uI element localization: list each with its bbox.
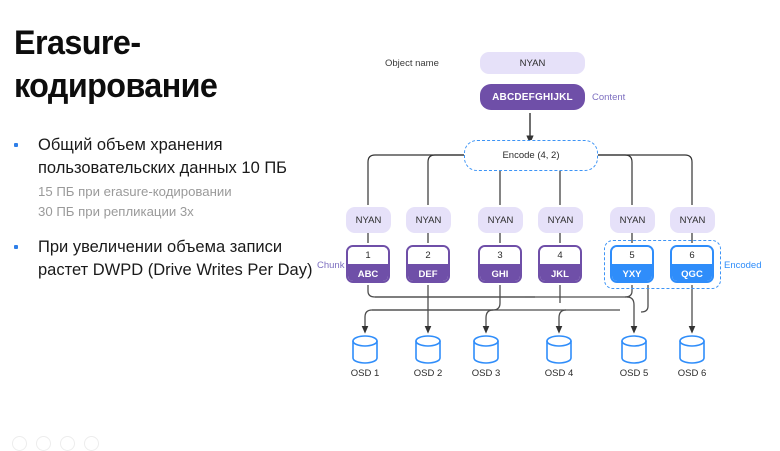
osd-label: OSD 1 — [340, 368, 390, 379]
bullet-sublist: 15 ПБ при erasure-кодировании 30 ПБ при … — [14, 182, 314, 222]
chunk-box: 5 YXY — [610, 245, 654, 283]
pagination-dot[interactable] — [36, 436, 51, 451]
bullet-text-primary: Общий объем хранения пользовательских да… — [38, 134, 314, 179]
pagination-dots[interactable] — [12, 436, 99, 451]
chunk-box: 1 ABC — [346, 245, 390, 283]
chunk-label: Chunk — [317, 260, 344, 271]
content-label: Content — [592, 92, 625, 103]
chunk-name-pill: NYAN — [346, 207, 391, 233]
chunk-data: DEF — [408, 264, 448, 283]
encode-box: Encode (4, 2) — [464, 140, 598, 171]
page-title: Erasure- кодирование — [14, 22, 299, 108]
osd-label: OSD 5 — [609, 368, 659, 379]
chunk-box: 3 GHI — [478, 245, 522, 283]
chunk-data: YXY — [612, 264, 652, 283]
chunk-name-pill: NYAN — [538, 207, 583, 233]
chunk-index: 2 — [408, 247, 448, 264]
list-item: При увеличении объема записи растет DWPD… — [14, 236, 314, 281]
encoded-label: Encoded — [724, 260, 762, 271]
slide-left-panel: Erasure- кодирование Общий объем хранени… — [0, 0, 330, 447]
chunk-name-pill: NYAN — [610, 207, 655, 233]
pagination-dot[interactable] — [84, 436, 99, 451]
pagination-dot[interactable] — [12, 436, 27, 451]
erasure-coding-diagram: Object name NYAN ABCDEFGHIJKL Content En… — [330, 0, 780, 447]
content-pill: ABCDEFGHIJKL — [480, 84, 585, 110]
osd-label: OSD 3 — [461, 368, 511, 379]
chunk-index: 5 — [612, 247, 652, 264]
square-bullet-icon — [14, 143, 18, 147]
chunk-name-pill: NYAN — [670, 207, 715, 233]
chunk-box: 4 JKL — [538, 245, 582, 283]
chunk-name-pill: NYAN — [406, 207, 451, 233]
bullet-text-primary: При увеличении объема записи растет DWPD… — [38, 236, 314, 281]
chunk-box: 6 QGC — [670, 245, 714, 283]
chunk-box: 2 DEF — [406, 245, 450, 283]
object-name-pill: NYAN — [480, 52, 585, 74]
bullet-subtext: 15 ПБ при erasure-кодировании — [38, 182, 314, 202]
bullet-subtext: 30 ПБ при репликации 3х — [38, 202, 314, 222]
object-name-label: Object name — [385, 58, 439, 69]
page-title-line-2: кодирование — [14, 65, 299, 108]
osd-label: OSD 2 — [403, 368, 453, 379]
page-title-line-1: Erasure- — [14, 22, 299, 65]
square-bullet-icon — [14, 245, 18, 249]
chunk-data: QGC — [672, 264, 712, 283]
bullet-list: Общий объем хранения пользовательских да… — [14, 134, 314, 293]
chunk-index: 3 — [480, 247, 520, 264]
osd-label: OSD 6 — [667, 368, 717, 379]
chunk-index: 4 — [540, 247, 580, 264]
chunk-data: GHI — [480, 264, 520, 283]
list-item: Общий объем хранения пользовательских да… — [14, 134, 314, 222]
osd-label: OSD 4 — [534, 368, 584, 379]
chunk-index: 1 — [348, 247, 388, 264]
chunk-data: JKL — [540, 264, 580, 283]
chunk-data: ABC — [348, 264, 388, 283]
chunk-index: 6 — [672, 247, 712, 264]
pagination-dot[interactable] — [60, 436, 75, 451]
chunk-name-pill: NYAN — [478, 207, 523, 233]
